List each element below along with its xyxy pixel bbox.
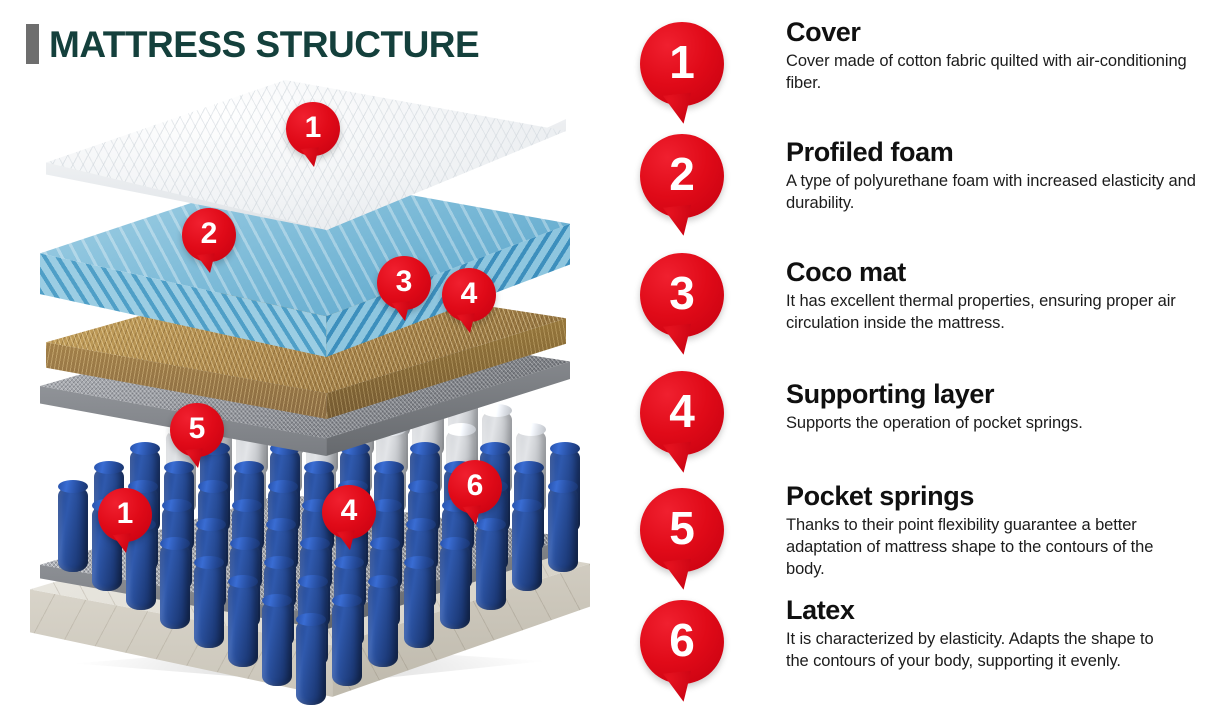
illustration-marker-1-cover[interactable]: 1 [286, 102, 340, 156]
pin-tail-icon [663, 324, 695, 357]
pin-number: 4 [669, 388, 695, 434]
pin-number: 2 [669, 151, 695, 197]
legend-description-2: A type of polyurethane foam with increas… [786, 171, 1196, 215]
legend-text-column: Cover Cover made of cotton fabric quilte… [786, 0, 1206, 705]
infographic-page: MATTRESS STRUCTURE [0, 0, 1214, 705]
pocket-spring-blue [194, 562, 224, 648]
pocket-spring-blue [296, 619, 326, 705]
illustration-marker-1b-cover[interactable]: 1 [98, 488, 152, 542]
pocket-spring-blue [160, 543, 190, 629]
page-title: MATTRESS STRUCTURE [26, 24, 479, 64]
legend-pin-3[interactable]: 3 [640, 253, 724, 337]
mattress-illustration: 1 2 3 4 5 4 1 [0, 60, 620, 700]
pocket-spring-blue [332, 600, 362, 686]
illustration-marker-6-latex[interactable]: 6 [448, 460, 502, 514]
legend-pin-column: 1 2 3 4 5 6 [634, 0, 774, 705]
legend-title-5: Pocket springs [786, 482, 1178, 510]
legend-description-4: Supports the operation of pocket springs… [786, 413, 1196, 435]
pin-number: 1 [305, 113, 322, 143]
pin-tail-icon [663, 559, 695, 592]
pin-tail-icon [663, 671, 695, 704]
illustration-marker-5-pocket-springs[interactable]: 5 [170, 403, 224, 457]
legend-pin-5[interactable]: 5 [640, 488, 724, 572]
pin-number: 4 [461, 279, 478, 309]
legend-description-3: It has excellent thermal properties, ens… [786, 291, 1196, 335]
illustration-marker-3-coco-mat[interactable]: 3 [377, 256, 431, 310]
legend-pin-2[interactable]: 2 [640, 134, 724, 218]
pin-number: 1 [117, 499, 134, 529]
legend-entry-3: Coco mat It has excellent thermal proper… [786, 258, 1196, 335]
pin-number: 5 [669, 505, 695, 551]
legend-entry-5: Pocket springs Thanks to their point fle… [786, 482, 1178, 581]
pin-tail-icon [663, 205, 695, 238]
pin-number: 2 [201, 219, 218, 249]
pocket-spring-blue [58, 486, 88, 572]
legend-title-6: Latex [786, 596, 1178, 624]
illustration-marker-4-supporting-layer[interactable]: 4 [442, 268, 496, 322]
pin-number: 3 [396, 267, 413, 297]
legend-title-4: Supporting layer [786, 380, 1196, 408]
pin-tail-icon [663, 93, 695, 126]
legend-pin-1[interactable]: 1 [640, 22, 724, 106]
pin-number: 6 [467, 471, 484, 501]
pin-number: 3 [669, 270, 695, 316]
pocket-spring-blue [548, 486, 578, 572]
legend-description-1: Cover made of cotton fabric quilted with… [786, 51, 1196, 95]
title-text: MATTRESS STRUCTURE [49, 26, 479, 63]
pin-number: 4 [341, 496, 358, 526]
pocket-spring-blue [512, 505, 542, 591]
illustration-marker-2-profiled-foam[interactable]: 2 [182, 208, 236, 262]
legend-entry-2: Profiled foam A type of polyurethane foa… [786, 138, 1196, 215]
legend-title-1: Cover [786, 18, 1196, 46]
legend-pin-6[interactable]: 6 [640, 600, 724, 684]
pocket-spring-blue [228, 581, 258, 667]
legend-entry-6: Latex It is characterized by elasticity.… [786, 596, 1178, 673]
legend-description-5: Thanks to their point flexibility guaran… [786, 515, 1178, 581]
legend-pin-4[interactable]: 4 [640, 371, 724, 455]
title-accent-bar [26, 24, 39, 64]
pin-tail-icon [663, 442, 695, 475]
legend-title-3: Coco mat [786, 258, 1196, 286]
legend-entry-4: Supporting layer Supports the operation … [786, 380, 1196, 435]
legend-entry-1: Cover Cover made of cotton fabric quilte… [786, 18, 1196, 95]
pocket-spring-blue [404, 562, 434, 648]
pocket-spring-blue [440, 543, 470, 629]
illustration-marker-4b-supporting-layer[interactable]: 4 [322, 485, 376, 539]
legend-title-2: Profiled foam [786, 138, 1196, 166]
legend-description-6: It is characterized by elasticity. Adapt… [786, 629, 1178, 673]
pin-number: 1 [669, 39, 695, 85]
pocket-spring-blue [476, 524, 506, 610]
pin-number: 6 [669, 617, 695, 663]
pin-number: 5 [189, 414, 206, 444]
pocket-spring-blue [262, 600, 292, 686]
pocket-spring-blue [368, 581, 398, 667]
